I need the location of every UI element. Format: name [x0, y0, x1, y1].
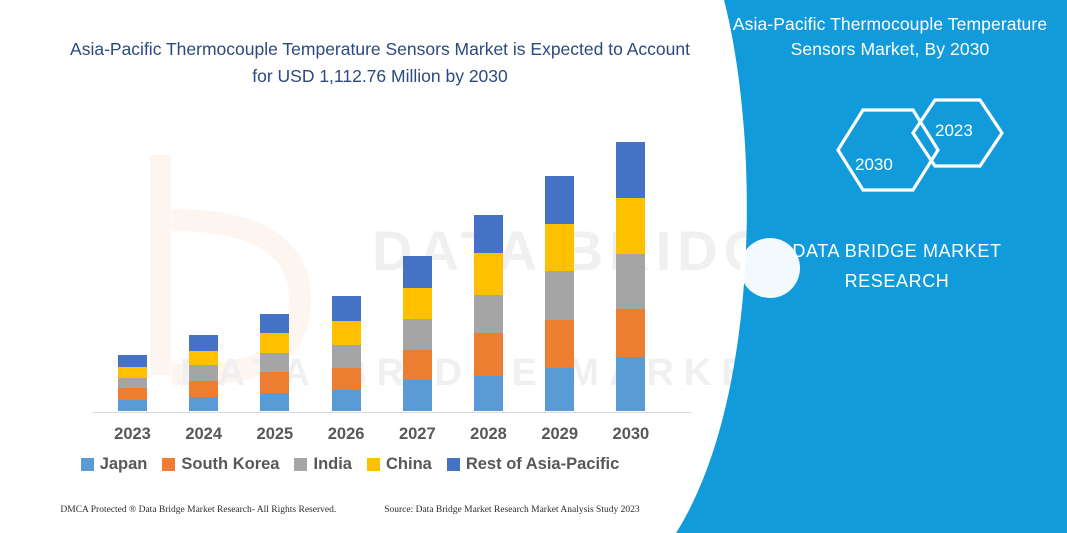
bar-segment-2028-south-korea — [474, 333, 503, 376]
legend-item-india[interactable]: India — [294, 455, 352, 474]
bar-2026 — [332, 296, 361, 411]
bar-segment-2023-china — [118, 367, 147, 378]
bar-2030 — [616, 142, 645, 411]
bar-segment-2024-china — [189, 351, 218, 365]
bar-segment-2023-india — [118, 378, 147, 388]
x-axis-label-2026: 2026 — [306, 425, 386, 444]
bar-segment-2028-china — [474, 253, 503, 295]
panel-title: Asia-Pacific Thermocouple Temperature Se… — [727, 12, 1053, 62]
x-axis-label-2025: 2025 — [235, 425, 315, 444]
bar-segment-2026-india — [332, 345, 361, 368]
bar-segment-2027-rest-of-asia-pacific — [403, 256, 432, 288]
bar-segment-2026-china — [332, 321, 361, 345]
bar-segment-2025-rest-of-asia-pacific — [260, 314, 289, 333]
x-axis-label-2023: 2023 — [93, 425, 173, 444]
bar-2027 — [403, 256, 432, 411]
brand-panel-content: Asia-Pacific Thermocouple Temperature Se… — [727, 0, 1067, 533]
infographic-canvas: DATA BRIDGE DATA BRIDGE MARKET RESEARCH … — [0, 0, 1067, 533]
bar-series-container: 20232024202520262027202820292030 — [0, 0, 700, 533]
bar-segment-2025-india — [260, 353, 289, 372]
bar-segment-2029-south-korea — [545, 320, 574, 368]
bar-segment-2027-india — [403, 319, 432, 350]
x-axis-label-2030: 2030 — [591, 425, 671, 444]
brand-name: DATA BRIDGE MARKET RESEARCH — [741, 236, 1053, 296]
bar-segment-2029-india — [545, 271, 574, 320]
bar-segment-2027-china — [403, 288, 432, 319]
legend-swatch-japan — [81, 458, 94, 471]
bar-segment-2027-south-korea — [403, 350, 432, 380]
bar-segment-2023-south-korea — [118, 388, 147, 400]
footer-bar: DMCA Protected ® Data Bridge Market Rese… — [0, 505, 700, 515]
bar-segment-2030-china — [616, 198, 645, 254]
bar-segment-2026-japan — [332, 390, 361, 411]
legend-swatch-rest-of-asia-pacific — [447, 458, 460, 471]
bar-segment-2024-rest-of-asia-pacific — [189, 335, 218, 351]
chart-plot-area: 20232024202520262027202820292030 JapanSo… — [0, 0, 700, 533]
bar-segment-2029-china — [545, 224, 574, 271]
legend-swatch-china — [367, 458, 380, 471]
x-axis-label-2028: 2028 — [449, 425, 529, 444]
bar-segment-2030-south-korea — [616, 309, 645, 357]
footer-source: Source: Data Bridge Market Research Mark… — [384, 505, 639, 515]
footer-copyright: DMCA Protected ® Data Bridge Market Rese… — [60, 505, 336, 515]
bar-2028 — [474, 215, 503, 411]
bar-segment-2027-japan — [403, 380, 432, 411]
bar-segment-2024-india — [189, 365, 218, 381]
x-axis-label-2024: 2024 — [164, 425, 244, 444]
bar-segment-2029-japan — [545, 368, 574, 411]
bar-segment-2030-india — [616, 254, 645, 309]
bar-segment-2028-japan — [474, 376, 503, 411]
hexagon-badges: 2030 2023 — [825, 95, 1035, 205]
hexagon-label-2023: 2023 — [935, 121, 973, 141]
legend-swatch-india — [294, 458, 307, 471]
bar-segment-2024-south-korea — [189, 381, 218, 397]
bar-segment-2025-china — [260, 333, 289, 353]
legend-label-india: India — [313, 455, 352, 474]
brand-name-text: DATA BRIDGE MARKET RESEARCH — [792, 241, 1001, 291]
bar-segment-2028-rest-of-asia-pacific — [474, 215, 503, 253]
legend-swatch-south-korea — [162, 458, 175, 471]
bar-segment-2029-rest-of-asia-pacific — [545, 176, 574, 224]
bar-segment-2024-japan — [189, 397, 218, 411]
bar-2029 — [545, 176, 574, 411]
bar-segment-2025-japan — [260, 393, 289, 411]
legend-item-china[interactable]: China — [367, 455, 432, 474]
bar-segment-2023-rest-of-asia-pacific — [118, 355, 147, 367]
bar-segment-2030-japan — [616, 357, 645, 411]
bar-2023 — [118, 355, 147, 411]
legend-label-japan: Japan — [100, 455, 148, 474]
bar-2024 — [189, 335, 218, 411]
legend-label-china: China — [386, 455, 432, 474]
bar-segment-2026-rest-of-asia-pacific — [332, 296, 361, 321]
bar-segment-2023-japan — [118, 400, 147, 411]
legend-item-rest-of-asia-pacific[interactable]: Rest of Asia-Pacific — [447, 455, 619, 474]
chart-legend: JapanSouth KoreaIndiaChinaRest of Asia-P… — [0, 455, 700, 474]
bar-segment-2028-india — [474, 295, 503, 333]
x-axis-label-2029: 2029 — [520, 425, 600, 444]
bar-segment-2030-rest-of-asia-pacific — [616, 142, 645, 198]
bar-2025 — [260, 314, 289, 411]
legend-item-japan[interactable]: Japan — [81, 455, 148, 474]
hexagon-label-2030: 2030 — [855, 155, 893, 175]
legend-label-south-korea: South Korea — [181, 455, 279, 474]
bar-segment-2025-south-korea — [260, 372, 289, 393]
legend-item-south-korea[interactable]: South Korea — [162, 455, 279, 474]
legend-label-rest-of-asia-pacific: Rest of Asia-Pacific — [466, 455, 619, 474]
bar-segment-2026-south-korea — [332, 368, 361, 390]
x-axis-label-2027: 2027 — [377, 425, 457, 444]
